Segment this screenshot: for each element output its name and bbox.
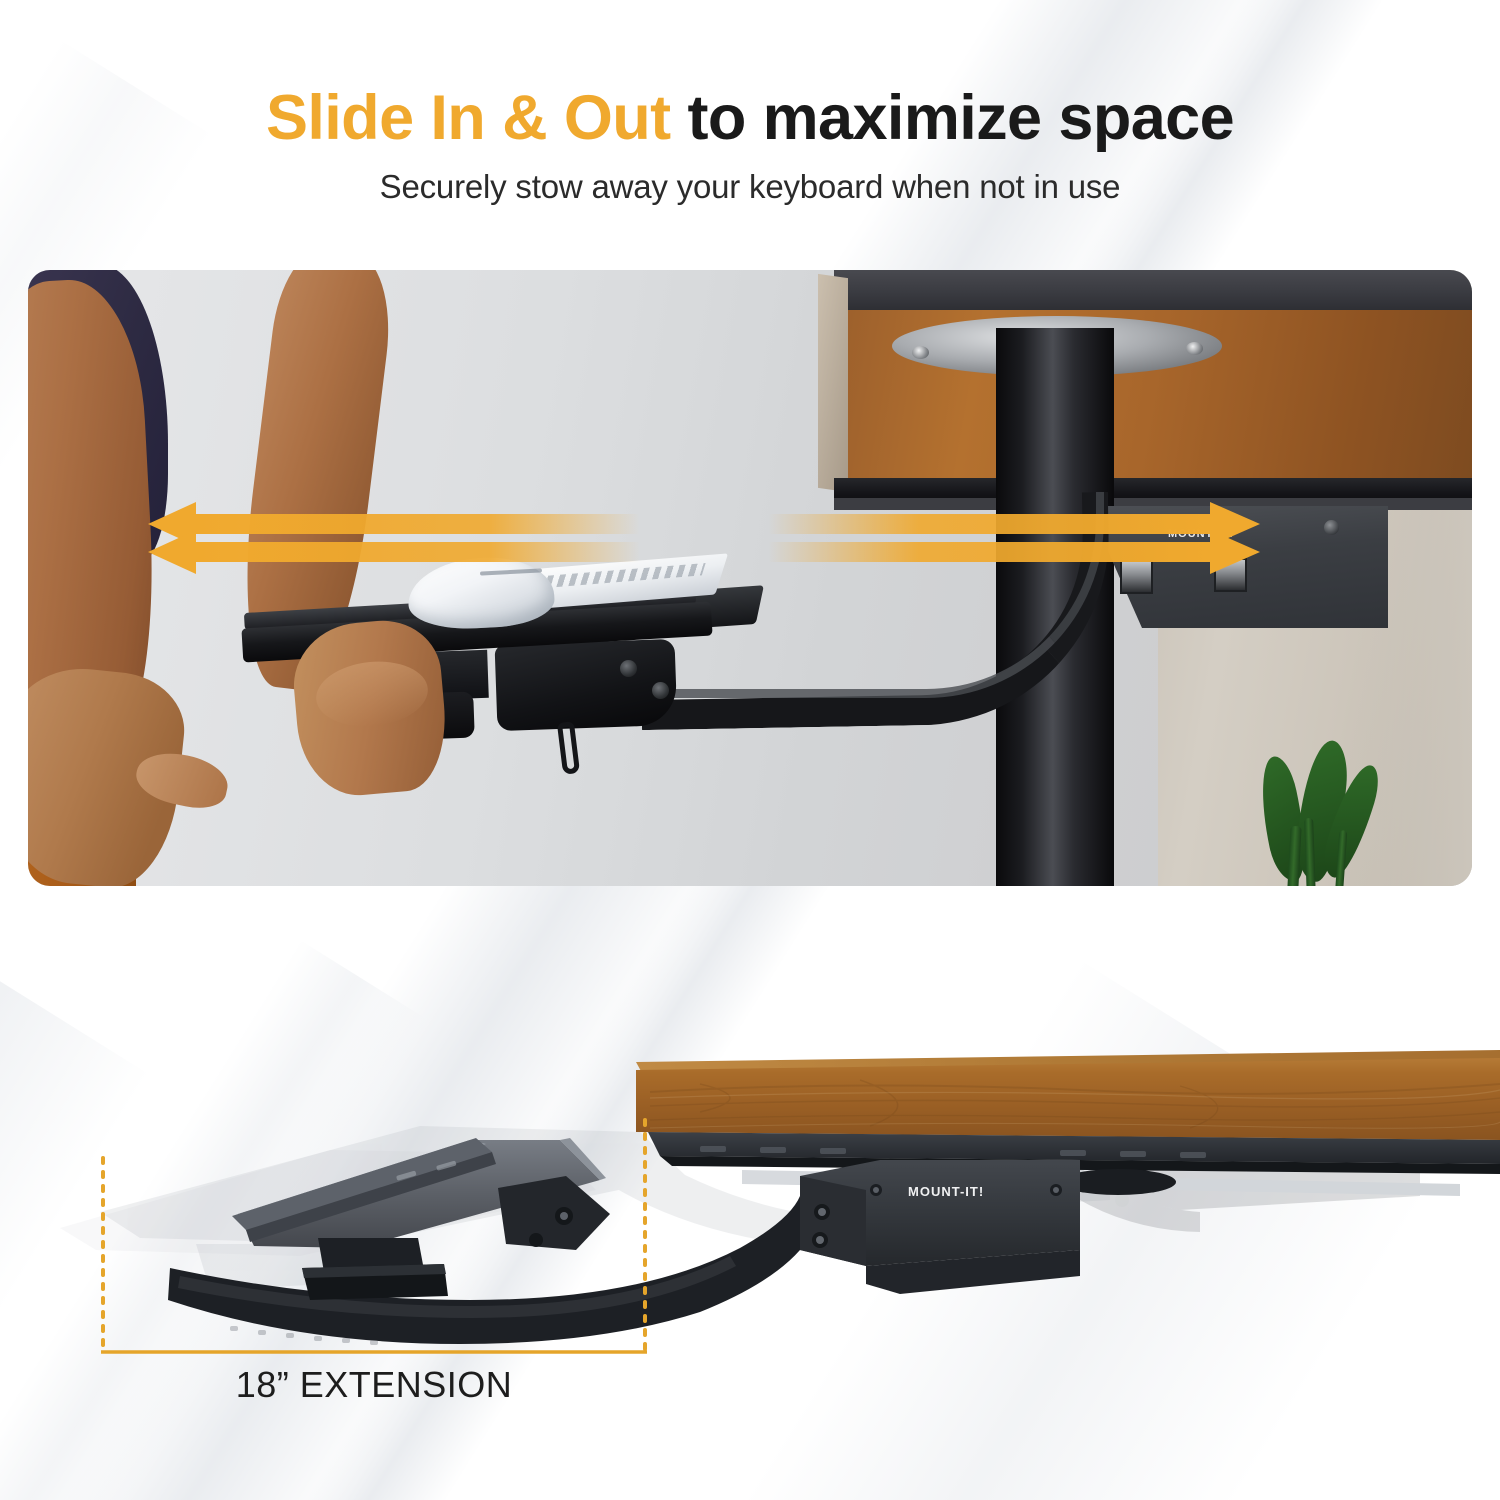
- product-photo-panel: MOUNT-IT!: [28, 270, 1472, 886]
- slide-out-arrow-icon: [768, 502, 1260, 574]
- page-subtitle: Securely stow away your keyboard when no…: [0, 168, 1500, 206]
- extension-measurement-label: 18” EXTENSION: [103, 1364, 645, 1406]
- headline-accent-text: Slide In & Out: [266, 83, 671, 153]
- page-title: Slide In & Out to maximize space: [0, 84, 1500, 152]
- direction-arrows-overlay: [28, 270, 1472, 886]
- slide-in-arrow-icon: [148, 502, 640, 574]
- header-block: Slide In & Out to maximize space Securel…: [0, 0, 1500, 206]
- headline-rest-text: to maximize space: [671, 83, 1234, 153]
